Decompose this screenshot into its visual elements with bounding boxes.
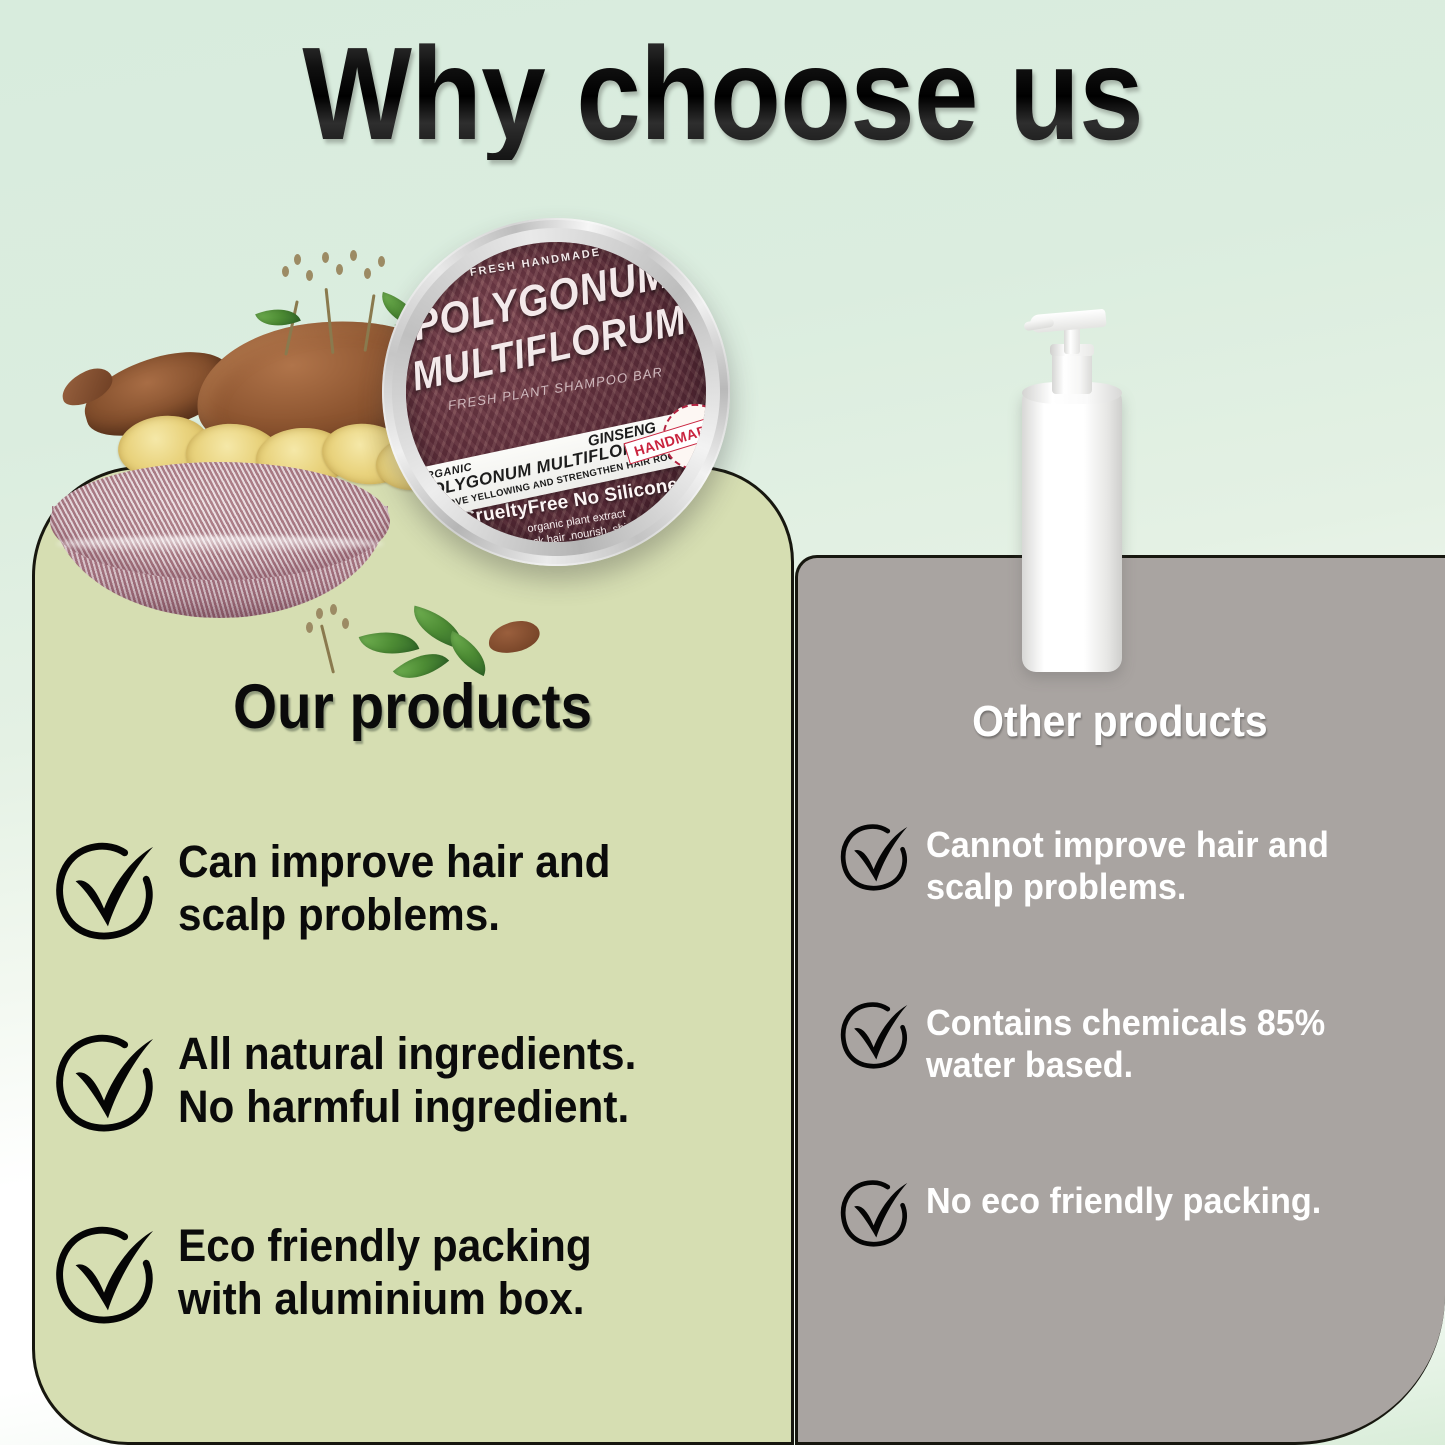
list-item-text: Cannot improve hair and scalp problems.: [926, 820, 1329, 908]
bottle-neck: [1052, 350, 1092, 394]
circled-check-icon: [52, 840, 160, 944]
list-item: Eco friendly packing with aluminium box.: [52, 1220, 752, 1328]
list-item: Cannot improve hair and scalp problems.: [838, 820, 1418, 908]
circled-check-icon: [52, 1032, 160, 1136]
circled-check-icon: [838, 1178, 912, 1250]
other-products-list: Cannot improve hair and scalp problems. …: [838, 820, 1418, 1340]
bottle-body: [1022, 390, 1122, 672]
list-item-line2: No harmful ingredient.: [178, 1081, 636, 1134]
other-products-heading: Other products: [795, 700, 1445, 744]
list-item-line1: Contains chemicals 85%: [926, 1002, 1325, 1044]
list-item-text: All natural ingredients. No harmful ingr…: [178, 1028, 636, 1133]
page-title-text: Why choose us: [302, 28, 1143, 160]
our-products-list: Can improve hair and scalp problems. All…: [52, 836, 752, 1412]
infographic-canvas: Why choose us: [0, 0, 1445, 1445]
polygonum-root-tuber-small: [75, 338, 240, 447]
list-item: Can improve hair and scalp problems.: [52, 836, 752, 944]
white-pump-bottle: [1022, 308, 1122, 672]
list-item-text: Contains chemicals 85% water based.: [926, 998, 1325, 1086]
page-title: Why choose us: [0, 28, 1445, 160]
our-products-heading-text: Our products: [233, 676, 592, 739]
list-item-line2: water based.: [926, 1044, 1325, 1086]
circled-check-icon: [838, 822, 912, 894]
list-item-line2: scalp problems.: [926, 866, 1329, 908]
list-item-text: Can improve hair and scalp problems.: [178, 836, 611, 941]
list-item: No eco friendly packing.: [838, 1176, 1418, 1250]
circled-check-icon: [52, 1224, 160, 1328]
list-item-text: Eco friendly packing with aluminium box.: [178, 1220, 592, 1325]
list-item-line2: scalp problems.: [178, 889, 611, 942]
polygonum-root-tip: [56, 362, 118, 411]
our-products-heading: Our products: [32, 676, 794, 739]
list-item-line1: All natural ingredients.: [178, 1028, 636, 1081]
circled-check-icon: [838, 1000, 912, 1072]
list-item-line1: Cannot improve hair and: [926, 824, 1329, 866]
list-item-line1: Can improve hair and: [178, 836, 611, 889]
other-products-heading-text: Other products: [972, 700, 1268, 744]
tin-label: FRESH HANDMADE POLYGONUM MULTIFLORUM FRE…: [384, 220, 727, 563]
list-item-line1: No eco friendly packing.: [926, 1180, 1321, 1222]
list-item: Contains chemicals 85% water based.: [838, 998, 1418, 1086]
list-item: All natural ingredients. No harmful ingr…: [52, 1028, 752, 1136]
list-item-text: No eco friendly packing.: [926, 1176, 1321, 1222]
list-item-line2: with aluminium box.: [178, 1273, 592, 1326]
list-item-line1: Eco friendly packing: [178, 1220, 592, 1273]
